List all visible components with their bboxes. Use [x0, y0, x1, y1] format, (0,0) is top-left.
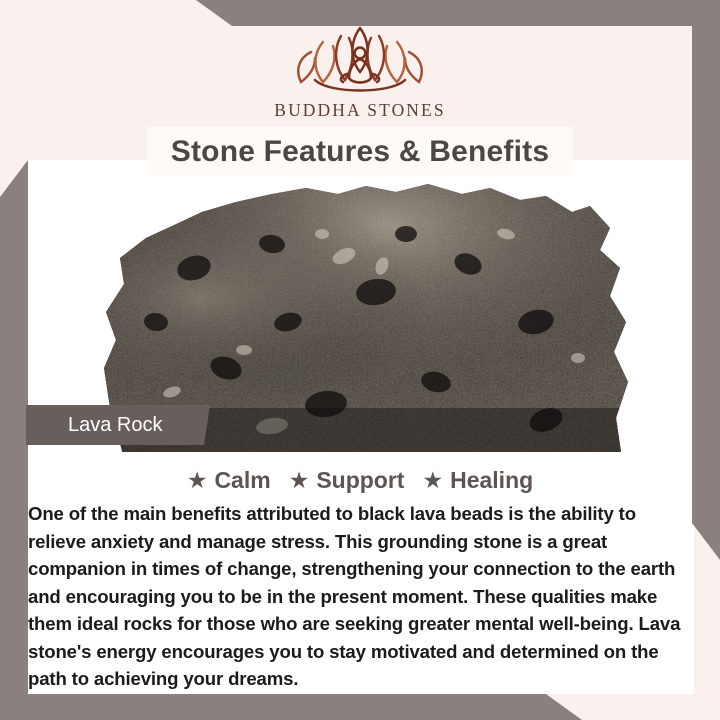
frame-left-bar: [0, 160, 28, 720]
star-icon: ★: [289, 469, 310, 492]
benefit-label: Calm: [214, 467, 270, 494]
lotus-meditation-icon: [275, 24, 445, 98]
title-banner: Stone Features & Benefits: [148, 128, 572, 175]
description-text: One of the main benefits attributed to b…: [28, 500, 698, 693]
benefit-item: ★ Support: [289, 467, 405, 494]
brand-header: BUDDHA STONES: [0, 24, 720, 128]
star-icon: ★: [187, 469, 208, 492]
hero-caption-banner: Lava Rock: [26, 405, 210, 445]
benefit-item: ★ Calm: [187, 467, 271, 494]
star-icon: ★: [422, 469, 443, 492]
benefit-label: Healing: [450, 467, 533, 494]
hero-caption-label: Lava Rock: [26, 414, 163, 437]
benefits-row: ★ Calm ★ Support ★ Healing: [26, 467, 694, 494]
brand-name: BUDDHA STONES: [274, 100, 445, 121]
benefit-label: Support: [316, 467, 404, 494]
page-title: Stone Features & Benefits: [171, 135, 549, 169]
benefit-item: ★ Healing: [422, 467, 533, 494]
